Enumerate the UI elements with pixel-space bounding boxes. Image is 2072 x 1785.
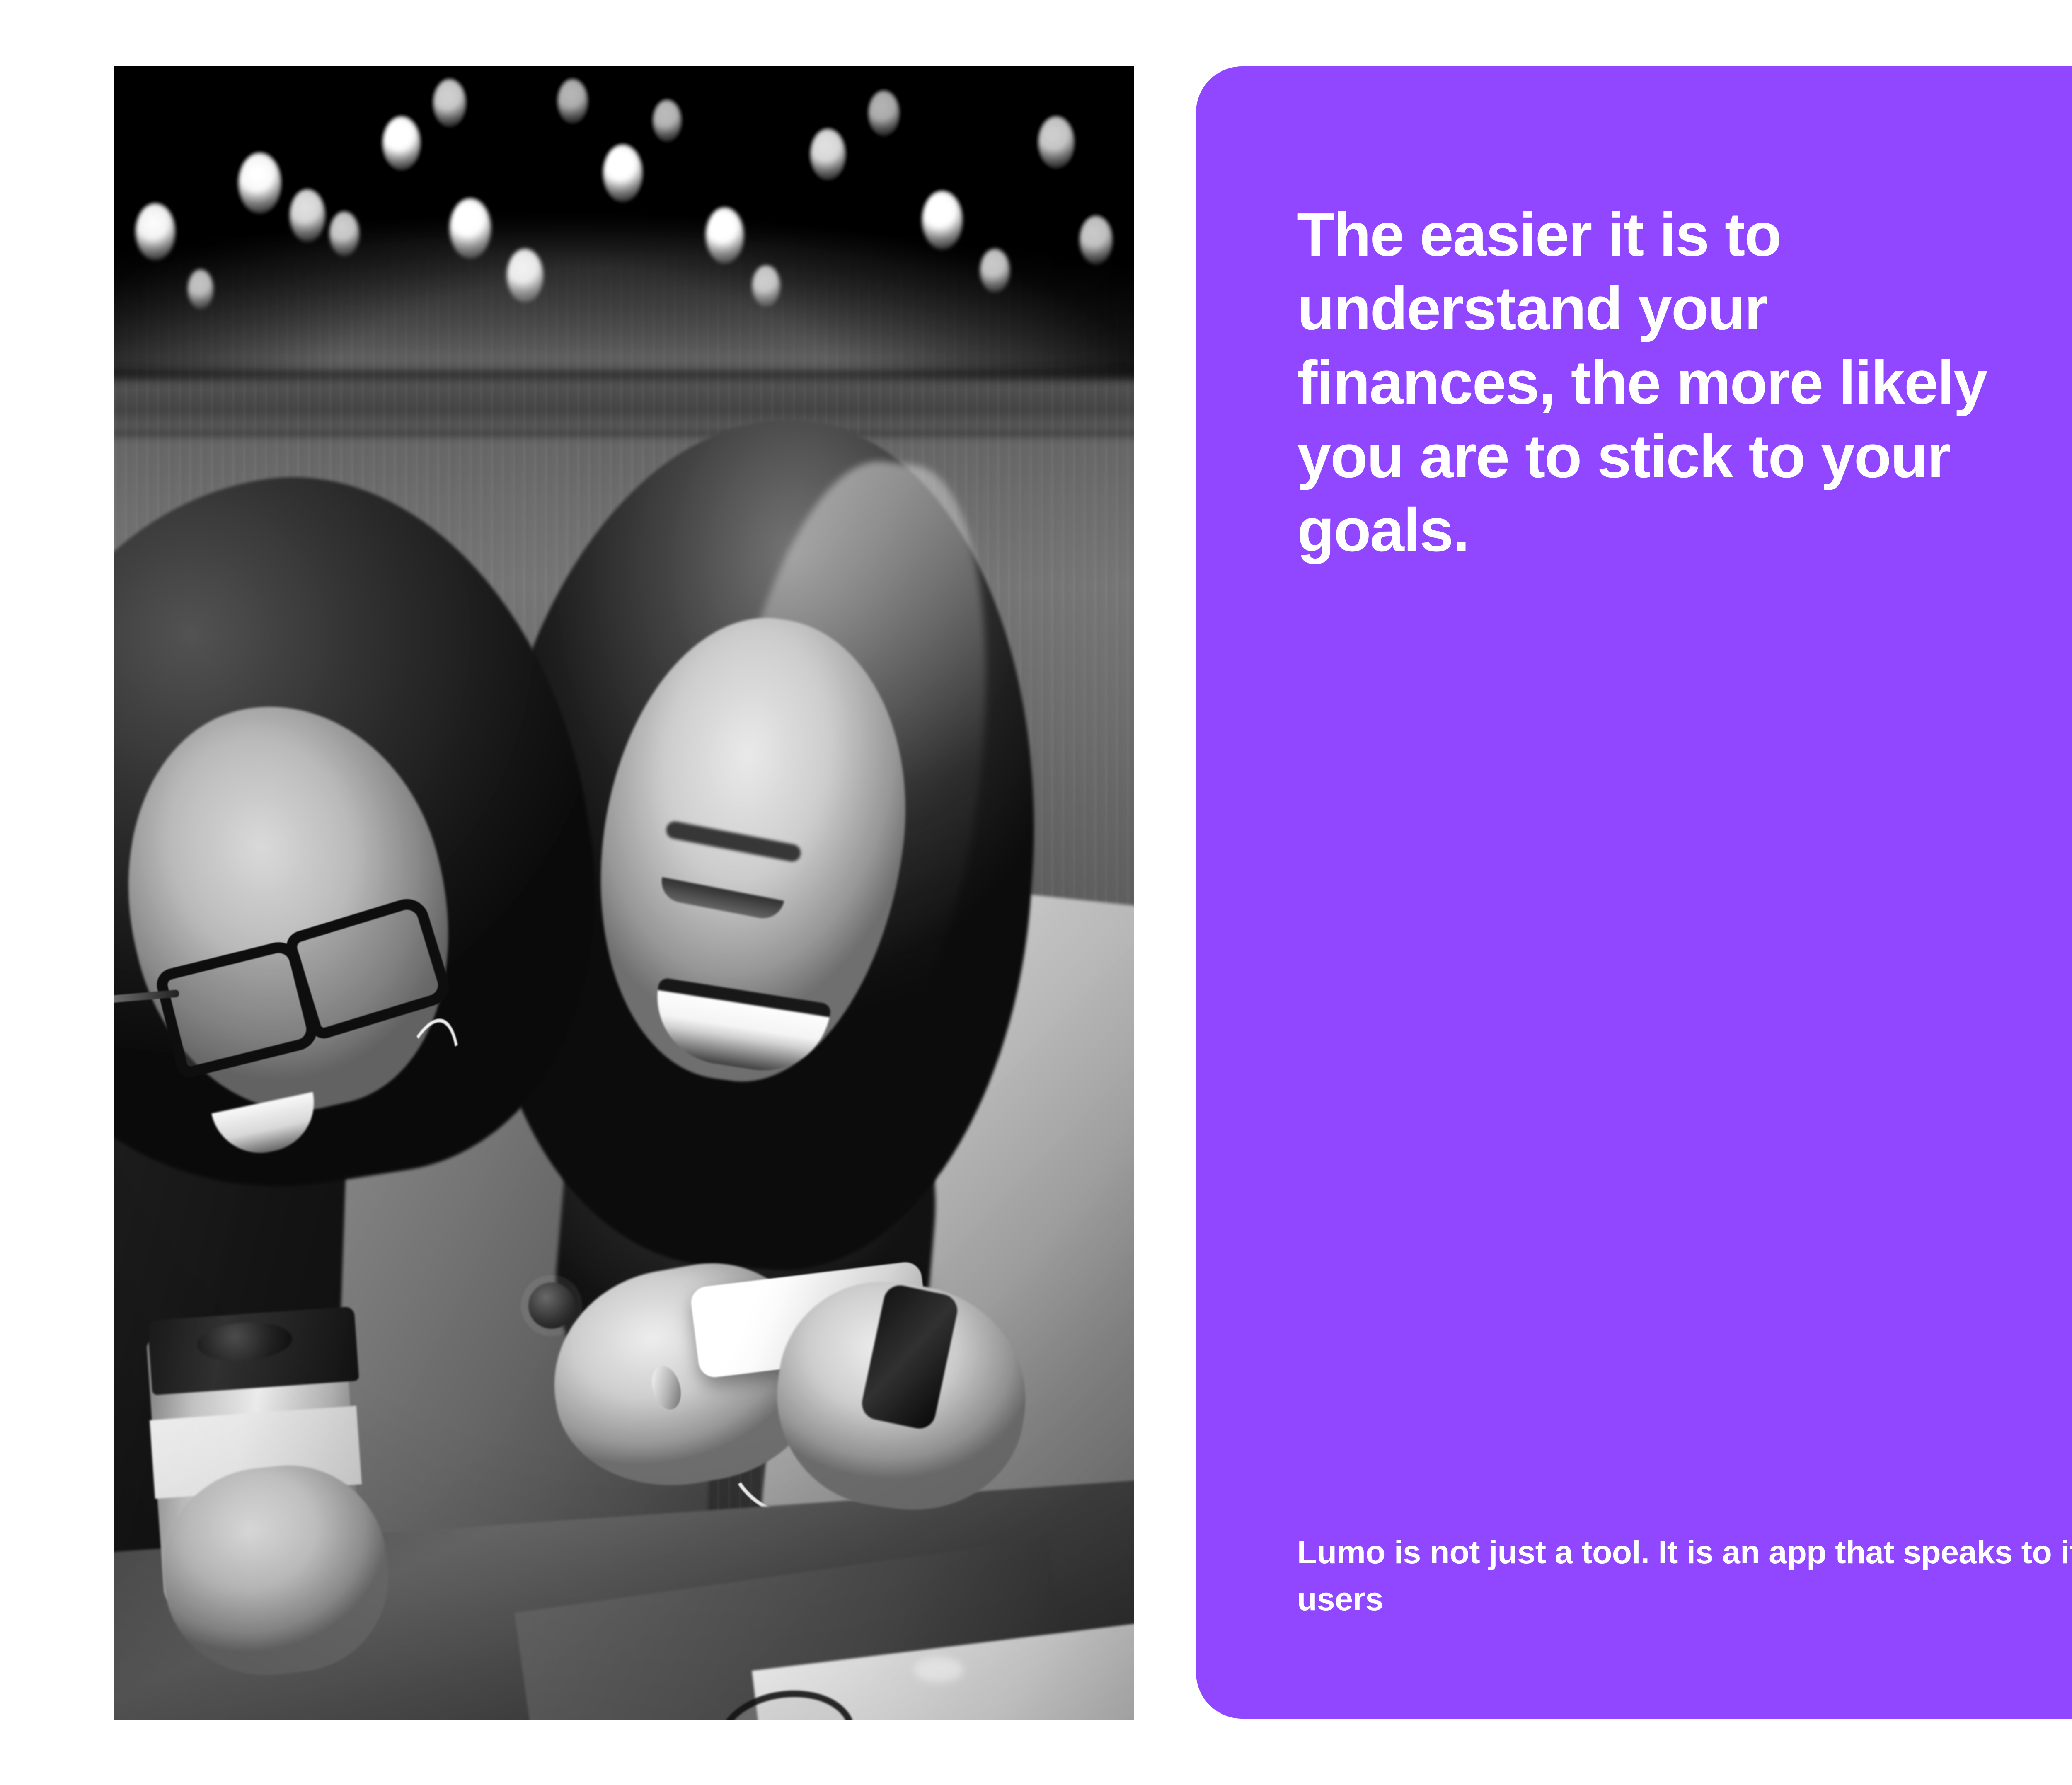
string-light-bokeh <box>706 207 744 264</box>
string-light-bokeh <box>810 128 846 181</box>
string-light-bokeh <box>922 191 963 249</box>
string-light-bokeh <box>238 152 281 214</box>
shelf-edge-upper <box>114 371 1134 382</box>
shelf-edge-lower <box>114 431 1134 438</box>
string-light-bokeh <box>603 144 643 202</box>
string-light-bokeh <box>980 249 1010 293</box>
string-light-bokeh <box>450 198 491 259</box>
string-light-bokeh <box>329 211 359 256</box>
string-light-bokeh <box>1080 215 1113 264</box>
ceiling-canopy <box>114 66 1134 377</box>
table-highlight <box>914 1657 963 1682</box>
quote-card: The easier it is to understand your fina… <box>1196 66 2072 1719</box>
string-light-bokeh <box>1038 116 1075 169</box>
string-light-bokeh <box>507 249 543 302</box>
string-light-bokeh <box>188 269 213 309</box>
photograph <box>114 66 1134 1720</box>
quote-footnote: Lumo is not just a tool. It is an app th… <box>1297 1529 2072 1623</box>
coat-button <box>528 1282 575 1329</box>
string-light-bokeh <box>557 79 588 124</box>
spacer <box>1297 568 2072 1529</box>
string-light-bokeh <box>868 90 900 137</box>
string-light-bokeh <box>382 116 421 171</box>
quote-slide: The easier it is to understand your fina… <box>0 0 2072 1785</box>
quote-headline: The easier it is to understand your fina… <box>1297 198 2026 568</box>
string-light-bokeh <box>136 203 175 260</box>
string-light-bokeh <box>653 99 682 143</box>
string-light-bokeh <box>752 265 780 307</box>
string-light-bokeh <box>433 79 466 128</box>
photo-panel <box>114 66 1134 1720</box>
string-light-bokeh <box>290 189 325 242</box>
